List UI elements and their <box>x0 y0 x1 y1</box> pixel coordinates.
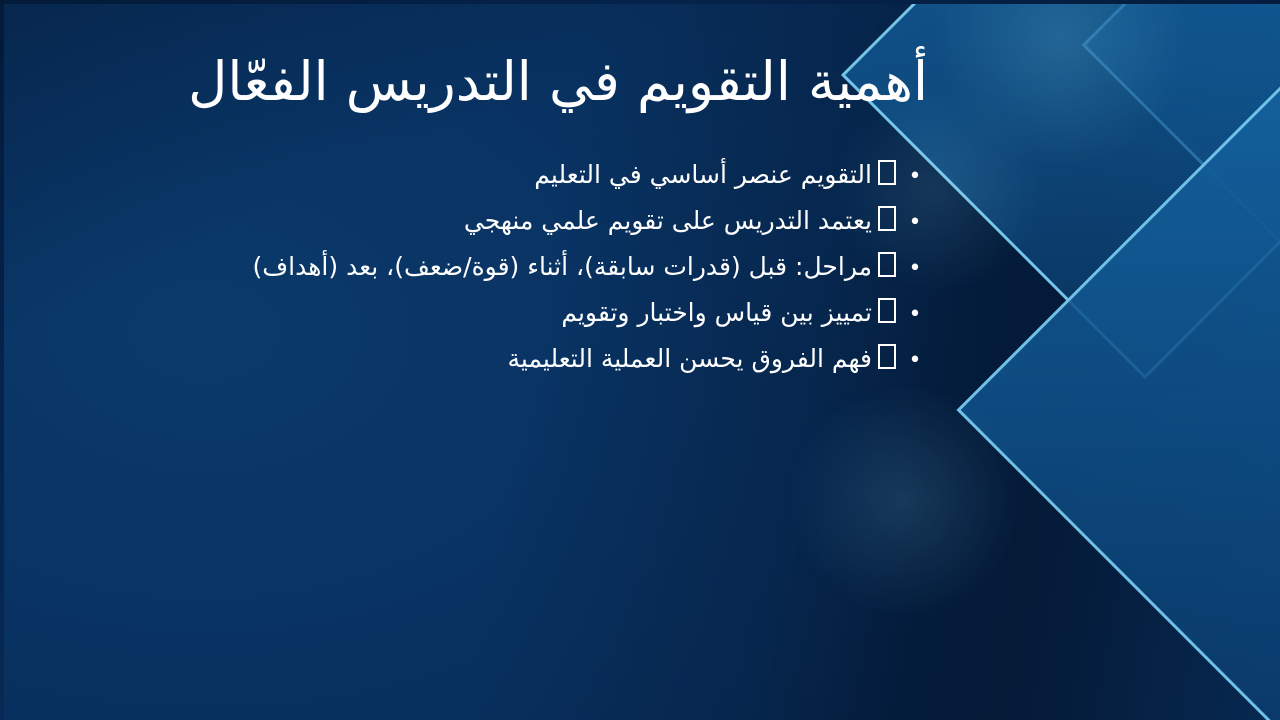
missing-glyph-icon <box>878 298 896 323</box>
bullet-row: • تمييز بين قياس واختبار وتقويم <box>561 290 925 338</box>
bullet-dot-icon: • <box>905 246 925 292</box>
missing-glyph-icon <box>878 206 896 231</box>
list-item-label: التقويم عنصر أساسي في التعليم <box>534 152 872 198</box>
missing-glyph-icon <box>878 344 896 369</box>
missing-glyph-icon <box>878 252 896 277</box>
slide-content: أهمية التقويم في التدريس الفعّال • التقو… <box>0 0 1280 720</box>
list-item-label: تمييز بين قياس واختبار وتقويم <box>561 290 872 336</box>
list-item-label: فهم الفروق يحسن العملية التعليمية <box>508 336 873 382</box>
bullet-row: • التقويم عنصر أساسي في التعليم <box>534 152 925 200</box>
bullet-dot-icon: • <box>905 200 925 246</box>
list-item: • يعتمد التدريس على تقويم علمي منهجي <box>345 198 925 244</box>
bullet-row: • مراحل: قبل (قدرات سابقة)، أثناء (قوة/ض… <box>253 244 925 292</box>
missing-glyph-icon <box>878 160 896 185</box>
slide-edge-top <box>0 0 1280 4</box>
list-item: • تمييز بين قياس واختبار وتقويم <box>345 290 925 336</box>
bullet-dot-icon: • <box>905 292 925 338</box>
slide-edge-left <box>0 0 4 720</box>
bullet-list: • التقويم عنصر أساسي في التعليم • يعتمد … <box>345 152 925 382</box>
list-item-label: يعتمد التدريس على تقويم علمي منهجي <box>464 198 872 244</box>
page-title: أهمية التقويم في التدريس الفعّال <box>352 52 928 112</box>
bullet-dot-icon: • <box>905 154 925 200</box>
bullet-row: • فهم الفروق يحسن العملية التعليمية <box>508 336 926 384</box>
list-item: • التقويم عنصر أساسي في التعليم <box>345 152 925 198</box>
list-item: • فهم الفروق يحسن العملية التعليمية <box>345 336 925 382</box>
list-item: • مراحل: قبل (قدرات سابقة)، أثناء (قوة/ض… <box>345 244 925 290</box>
bullet-row: • يعتمد التدريس على تقويم علمي منهجي <box>464 198 925 246</box>
presentation-slide: أهمية التقويم في التدريس الفعّال • التقو… <box>0 0 1280 720</box>
bullet-dot-icon: • <box>905 338 925 384</box>
list-item-label: مراحل: قبل (قدرات سابقة)، أثناء (قوة/ضعف… <box>253 244 872 290</box>
